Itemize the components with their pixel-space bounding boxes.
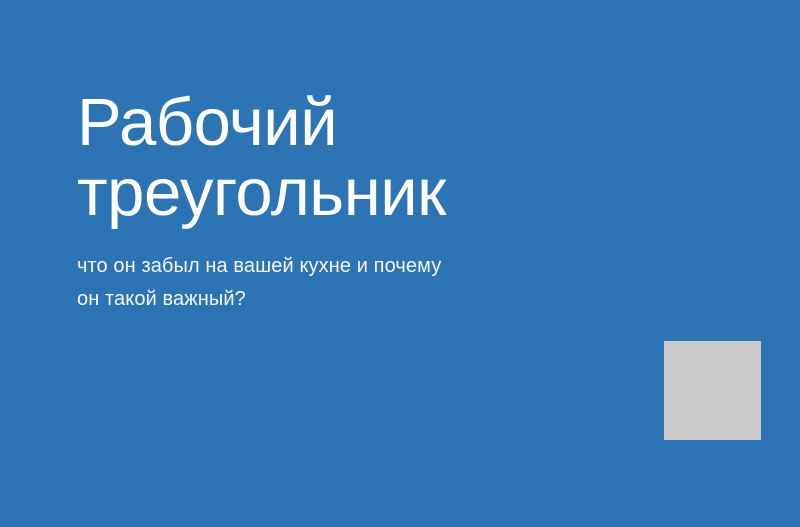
title-line-1: Рабочий <box>77 88 637 158</box>
title-slide: Рабочий треугольник что он забыл на ваше… <box>0 0 800 527</box>
slide-text-block: Рабочий треугольник что он забыл на ваше… <box>77 88 637 316</box>
image-placeholder <box>664 341 761 440</box>
subtitle-line-2: он такой важный? <box>77 283 637 316</box>
title-line-2: треугольник <box>77 158 637 228</box>
subtitle-line-1: что он забыл на вашей кухне и почему <box>77 250 637 283</box>
page-subtitle: что он забыл на вашей кухне и почему он … <box>77 250 637 316</box>
page-title: Рабочий треугольник <box>77 88 637 228</box>
title-subtitle-spacer <box>77 228 637 250</box>
